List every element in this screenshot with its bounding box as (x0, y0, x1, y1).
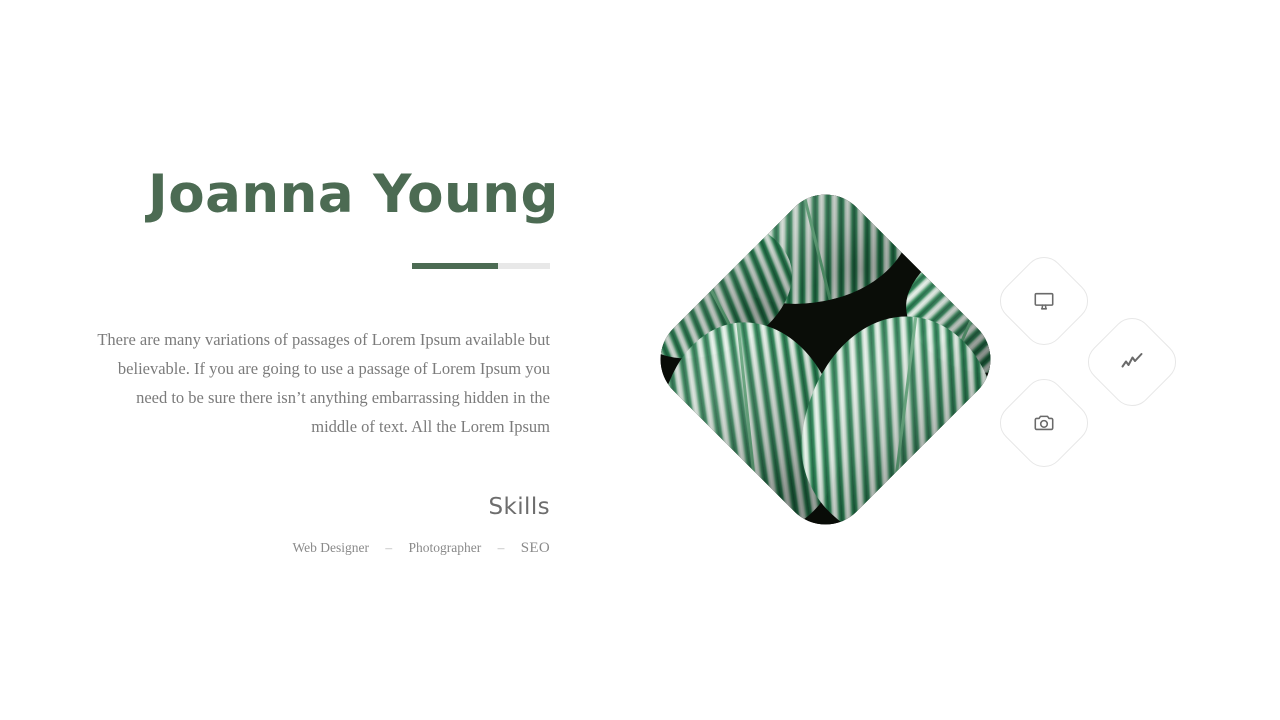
profile-photo-diamond (642, 176, 1008, 542)
leaf-shape (790, 304, 1008, 542)
badge-monitor[interactable] (992, 249, 1097, 354)
skills-heading: Skills (150, 494, 550, 520)
skills-list: Web Designer – Photographer – SEO (150, 540, 550, 557)
skill-separator: – (485, 540, 518, 556)
leaf-vein (735, 313, 763, 543)
line-chart-icon (1117, 347, 1147, 377)
badge-chart[interactable] (1080, 310, 1185, 415)
profile-photo-image (642, 176, 1008, 542)
leaf-vein (885, 304, 918, 542)
camera-icon (1029, 408, 1059, 438)
divider-track (498, 263, 550, 269)
skill-item-web-designer: Web Designer (293, 540, 370, 555)
divider-fill (412, 263, 498, 269)
accent-divider (412, 263, 550, 269)
skill-item-photographer: Photographer (409, 540, 482, 555)
skill-separator: – (372, 540, 405, 556)
badge-camera[interactable] (992, 371, 1097, 476)
body-paragraph: There are many variations of passages of… (88, 325, 550, 441)
page-title: Joanna Young (148, 163, 550, 227)
slide-canvas: Joanna Young There are many variations o… (0, 0, 1280, 720)
left-content-column: Joanna Young There are many variations o… (0, 0, 600, 720)
skill-item-seo: SEO (521, 540, 550, 556)
monitor-icon (1029, 286, 1059, 316)
